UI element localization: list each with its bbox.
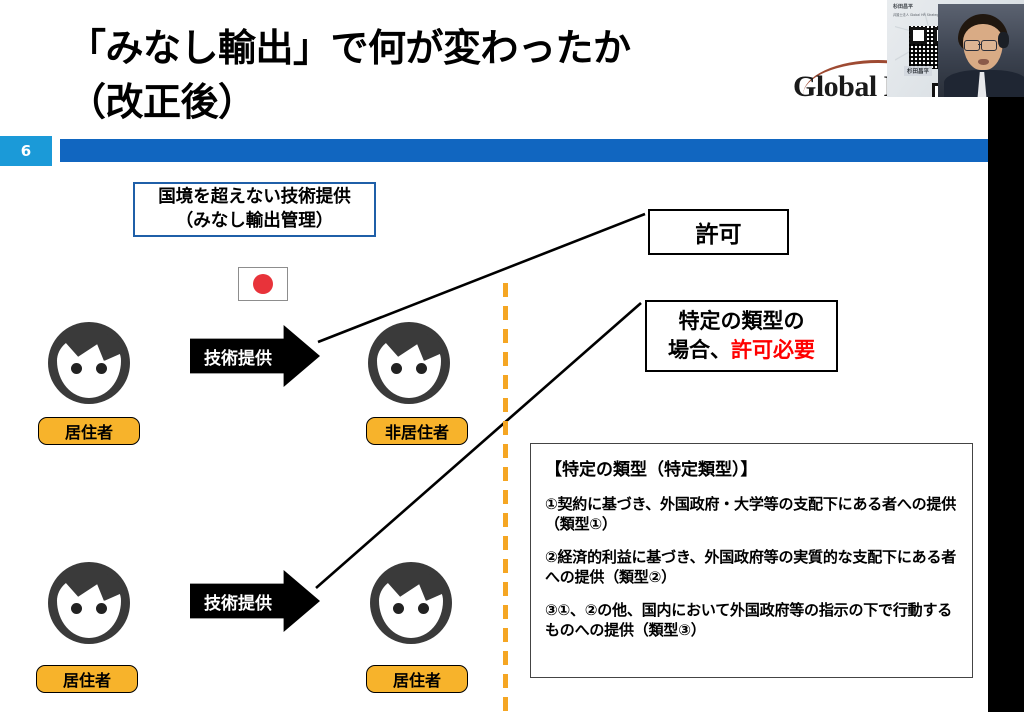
arrow-tech-transfer-2: 技術提供 (190, 570, 320, 632)
person-mouth (978, 59, 989, 65)
specific-type-item: ②経済的利益に基づき、外国政府等の実質的な支配下にある者への提供（類型②） (545, 548, 958, 588)
conditional-line-2: 場合、許可必要 (668, 336, 815, 365)
person-icon-resident-2 (48, 562, 130, 644)
label-resident-3: 居住者 (366, 665, 468, 693)
webcam-person (938, 4, 1024, 97)
webcam-video-panel[interactable]: 杉田昌平 弁護士法人 Global HR Strategy 杉田昌平 (887, 0, 1024, 97)
conditional-line-1: 特定の類型の (679, 307, 805, 336)
page-title: 「みなし輸出」で何が変わったか （改正後） (68, 22, 808, 130)
header-accent-bar (60, 139, 988, 162)
eye-right (418, 603, 429, 614)
border-divider (503, 283, 508, 711)
eye-left (71, 603, 82, 614)
scope-box: 国境を超えない技術提供 （みなし輸出管理） (133, 182, 376, 237)
screen-letterbox-bar (988, 0, 1024, 712)
eye-left (71, 363, 82, 374)
eye-right (96, 603, 107, 614)
webcam-participant-name: 杉田昌平 (893, 4, 913, 12)
eye-right (416, 363, 427, 374)
label-resident-1: 居住者 (38, 417, 140, 445)
person-icon-nonresident (368, 322, 450, 404)
eye-left (393, 603, 404, 614)
person-glasses-right (981, 40, 997, 51)
webcam-participant-subtitle: 弁護士法人 Global HR Strategy (893, 13, 940, 18)
eye-right (96, 363, 107, 374)
label-nonresident: 非居住者 (366, 417, 468, 445)
specific-type-item: ①契約に基づき、外国政府・大学等の支配下にある者への提供（類型①） (545, 495, 958, 535)
conditional-prefix: 場合、 (668, 338, 731, 362)
person-icon-resident-3 (370, 562, 452, 644)
flag-sun-disc (253, 274, 273, 294)
webcam-name-tag: 杉田昌平 (904, 66, 932, 76)
presentation-slide: 「みなし輸出」で何が変わったか （改正後） 6 Global HR Strate… (0, 0, 1024, 712)
specific-types-panel: 【特定の類型（特定類型）】 ①契約に基づき、外国政府・大学等の支配下にある者への… (530, 443, 973, 678)
person-glasses-bridge (978, 44, 981, 45)
slide-number-badge: 6 (0, 136, 52, 166)
person-icon-resident-1 (48, 322, 130, 404)
arrow-tech-transfer-1: 技術提供 (190, 325, 320, 387)
specific-type-item: ③①、②の他、国内において外国政府等の指示の下で行動するものへの提供（類型③） (545, 601, 958, 641)
conditional-highlight: 許可必要 (731, 338, 815, 362)
person-glasses-left (964, 40, 980, 51)
eye-left (391, 363, 402, 374)
japan-flag-icon (238, 267, 288, 301)
specific-types-heading: 【特定の類型（特定類型）】 (545, 455, 958, 480)
headset-icon (998, 32, 1009, 48)
permission-box: 許可 (648, 209, 789, 255)
conditional-permission-box: 特定の類型の 場合、許可必要 (645, 300, 838, 372)
label-resident-2: 居住者 (36, 665, 138, 693)
